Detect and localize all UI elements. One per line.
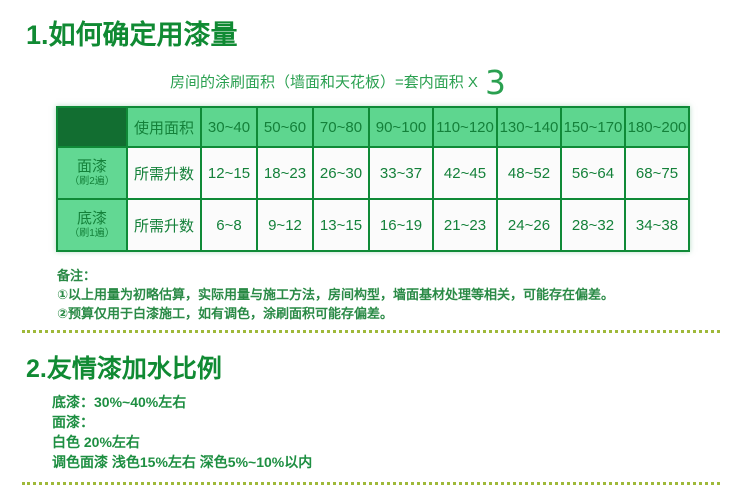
formula-multiplier: 3: [485, 63, 506, 102]
cell-primer-5: 24~26: [497, 199, 561, 251]
cell-topcoat-5: 48~52: [497, 147, 561, 199]
row-metric-primer: 所需升数: [127, 199, 201, 251]
paint-quantity-table: 使用面积 30~40 50~60 70~80 90~100 110~120 13…: [56, 106, 690, 252]
table-header-range-6: 150~170: [561, 107, 625, 147]
formula-text: 房间的涂刷面积（墙面和天花板）=套内面积 X: [170, 74, 478, 91]
row-header-topcoat: 面漆 （刷2遍）: [57, 147, 127, 199]
cell-topcoat-1: 18~23: [257, 147, 313, 199]
cell-topcoat-6: 56~64: [561, 147, 625, 199]
table-header-range-3: 90~100: [369, 107, 433, 147]
water-ratio-list: 底漆：30%~40%左右 面漆： 白色 20%左右 调色面漆 浅色15%左右 深…: [52, 392, 312, 472]
cell-topcoat-0: 12~15: [201, 147, 257, 199]
cell-primer-2: 13~15: [313, 199, 369, 251]
cell-primer-7: 34~38: [625, 199, 689, 251]
cell-primer-0: 6~8: [201, 199, 257, 251]
section-1-title: 1.如何确定用漆量: [26, 22, 238, 49]
cell-primer-6: 28~32: [561, 199, 625, 251]
cell-topcoat-4: 42~45: [433, 147, 497, 199]
section-divider-top: [22, 330, 720, 333]
table-header-row: 使用面积 30~40 50~60 70~80 90~100 110~120 13…: [57, 107, 689, 147]
row-header-topcoat-name: 面漆: [58, 158, 126, 175]
row-metric-topcoat: 所需升数: [127, 147, 201, 199]
note-item-2: ②预算仅用于白漆施工，如有调色，涂刷面积可能存偏差。: [57, 304, 614, 323]
water-ratio-topcoat-label: 面漆：: [52, 412, 312, 432]
section-divider-bottom: [22, 482, 720, 485]
table-notes: 备注： ①以上用量为初略估算，实际用量与施工方法，房间构型，墙面基材处理等相关，…: [57, 266, 614, 323]
table-row: 面漆 （刷2遍） 所需升数 12~15 18~23 26~30 33~37 42…: [57, 147, 689, 199]
note-item-1: ①以上用量为初略估算，实际用量与施工方法，房间构型，墙面基材处理等相关，可能存在…: [57, 285, 614, 304]
table-corner-cell: [57, 107, 127, 147]
cell-topcoat-3: 33~37: [369, 147, 433, 199]
table-header-usage-area: 使用面积: [127, 107, 201, 147]
cell-primer-3: 16~19: [369, 199, 433, 251]
row-header-primer-sub: （刷1遍）: [58, 228, 126, 240]
cell-primer-1: 9~12: [257, 199, 313, 251]
water-ratio-tinted: 调色面漆 浅色15%左右 深色5%~10%以内: [52, 452, 312, 472]
paint-usage-infographic: 1.如何确定用漆量 房间的涂刷面积（墙面和天花板）=套内面积 X3 使用面积 3…: [0, 0, 739, 494]
row-header-primer-name: 底漆: [58, 210, 126, 227]
cell-topcoat-2: 26~30: [313, 147, 369, 199]
table-header-range-5: 130~140: [497, 107, 561, 147]
water-ratio-white: 白色 20%左右: [52, 432, 312, 452]
table-header-range-0: 30~40: [201, 107, 257, 147]
cell-primer-4: 21~23: [433, 199, 497, 251]
row-header-topcoat-sub: （刷2遍）: [58, 176, 126, 188]
row-header-primer: 底漆 （刷1遍）: [57, 199, 127, 251]
section-2-title: 2.友情漆加水比例: [26, 357, 222, 382]
table-header-range-4: 110~120: [433, 107, 497, 147]
water-ratio-primer: 底漆：30%~40%左右: [52, 392, 312, 412]
cell-topcoat-7: 68~75: [625, 147, 689, 199]
table-row: 底漆 （刷1遍） 所需升数 6~8 9~12 13~15 16~19 21~23…: [57, 199, 689, 251]
table-header-range-1: 50~60: [257, 107, 313, 147]
table-header-range-2: 70~80: [313, 107, 369, 147]
paint-area-formula: 房间的涂刷面积（墙面和天花板）=套内面积 X3: [170, 66, 506, 99]
note-heading: 备注：: [57, 266, 614, 285]
table-header-range-7: 180~200: [625, 107, 689, 147]
